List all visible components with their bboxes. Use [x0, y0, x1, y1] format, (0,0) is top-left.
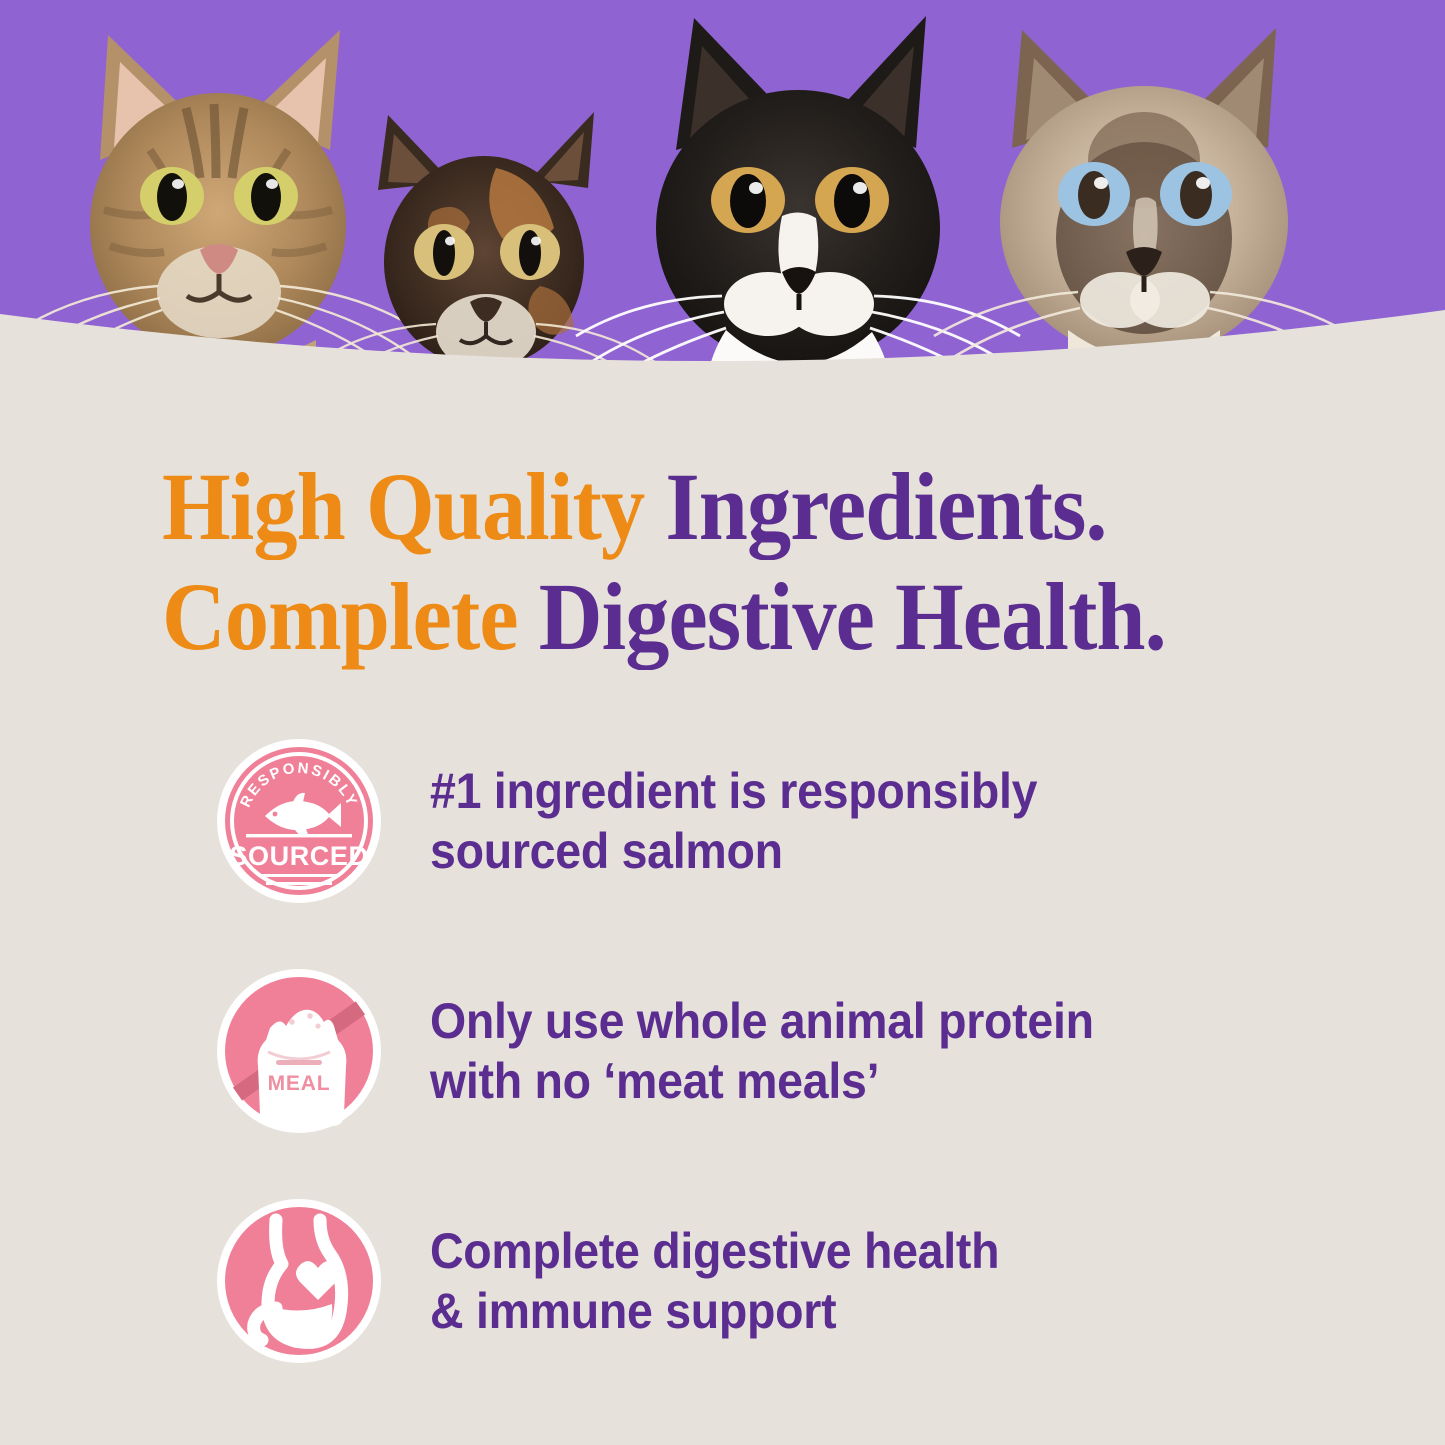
benefit-text-no-meat-meals: Only use whole animal protein with no ‘m…	[430, 991, 1374, 1111]
benefit-item-responsibly-sourced: RESPONSIBLY SOURCED #1 ingredi	[0, 726, 1445, 916]
benefit-line-2: with no ‘meat meals’	[430, 1051, 1374, 1111]
bag-label-text: MEAL	[268, 1072, 331, 1095]
headline: High Quality Ingredients. Complete Diges…	[162, 452, 1342, 672]
headline-line-2-purple: Digestive Health.	[539, 563, 1166, 670]
benefit-line-1: Complete digestive health	[430, 1223, 999, 1279]
stomach-heart-digestive-health-icon	[214, 1196, 384, 1366]
benefit-item-no-meat-meals: MEAL Only use whole animal protein with …	[0, 956, 1445, 1146]
headline-line-1: High Quality Ingredients.	[162, 452, 1248, 562]
headline-line-1-purple: Ingredients.	[665, 453, 1106, 560]
headline-line-2-orange: Complete	[162, 563, 539, 670]
headline-line-1-orange: High Quality	[162, 453, 665, 560]
benefit-list: RESPONSIBLY SOURCED #1 ingredi	[0, 726, 1445, 1416]
headline-line-2: Complete Digestive Health.	[162, 562, 1248, 672]
product-feature-poster: High Quality Ingredients. Complete Diges…	[0, 0, 1445, 1445]
benefit-text-responsibly-sourced: #1 ingredient is responsibly sourced sal…	[430, 761, 1374, 881]
benefit-line-1: #1 ingredient is responsibly	[430, 763, 1037, 819]
benefit-line-2: sourced salmon	[430, 821, 1374, 881]
responsibly-sourced-fish-badge-icon: RESPONSIBLY SOURCED	[214, 736, 384, 906]
benefit-item-digestive-health: Complete digestive health & immune suppo…	[0, 1186, 1445, 1376]
badge-sourced-text: SOURCED	[229, 841, 368, 871]
no-meat-meal-bag-icon: MEAL	[214, 966, 384, 1136]
banner-cats-illustration	[0, 0, 1445, 400]
benefit-text-digestive-health: Complete digestive health & immune suppo…	[430, 1221, 1374, 1341]
benefit-line-1: Only use whole animal protein	[430, 993, 1094, 1049]
benefit-line-2: & immune support	[430, 1281, 1374, 1341]
cat-photo-banner	[0, 0, 1445, 400]
